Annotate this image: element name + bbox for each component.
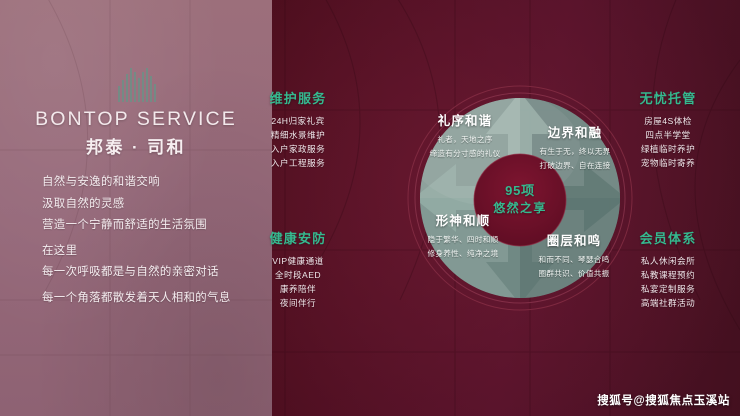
service-item: 康养陪伴 <box>238 283 358 297</box>
slide-canvas: BONTOP SERVICE 邦泰 · 司和 自然与安逸的和谐交响 汲取自然的灵… <box>0 0 740 416</box>
concept-wheel-diagram: 礼序和谐 礼者，天地之序 缔造有分寸感的礼仪 边界和融 有生于无，终以无界 打破… <box>404 82 636 314</box>
brand-name-chinese: 邦泰 · 司和 <box>0 133 272 158</box>
service-item-list: 24H归家礼宾 精细水景维护 入户家政服务 入户工程服务 <box>238 115 358 171</box>
watermark: 搜狐号@搜狐焦点玉溪站 <box>597 392 730 408</box>
wheel-hub: 95项 悠然之享 <box>475 156 565 244</box>
copy-line: 自然与安逸的和谐交响 <box>42 175 272 190</box>
service-item-list: VIP健康通道 全时段AED 康养陪伴 夜间伴行 <box>238 255 358 311</box>
service-group-maintenance: 维护服务 24H归家礼宾 精细水景维护 入户家政服务 入户工程服务 <box>238 88 358 171</box>
service-item: 24H归家礼宾 <box>238 115 358 129</box>
service-item: 夜间伴行 <box>238 297 358 311</box>
hub-label: 悠然之享 <box>493 201 547 217</box>
brand-pane: BONTOP SERVICE 邦泰 · 司和 自然与安逸的和谐交响 汲取自然的灵… <box>0 0 272 416</box>
brand-name-english: BONTOP SERVICE <box>0 108 272 131</box>
service-item: 全时段AED <box>238 269 358 283</box>
hub-count: 95项 <box>505 183 535 199</box>
service-item: 精细水景维护 <box>238 129 358 143</box>
service-item: VIP健康通道 <box>238 255 358 269</box>
vertical-bars-motif-icon <box>118 68 156 102</box>
service-item: 入户工程服务 <box>238 157 358 171</box>
copy-line: 汲取自然的灵感 <box>42 197 272 212</box>
service-item: 入户家政服务 <box>238 143 358 157</box>
service-group-health: 健康安防 VIP健康通道 全时段AED 康养陪伴 夜间伴行 <box>238 228 358 311</box>
service-group-title: 维护服务 <box>238 88 358 107</box>
service-group-title: 健康安防 <box>238 228 358 247</box>
